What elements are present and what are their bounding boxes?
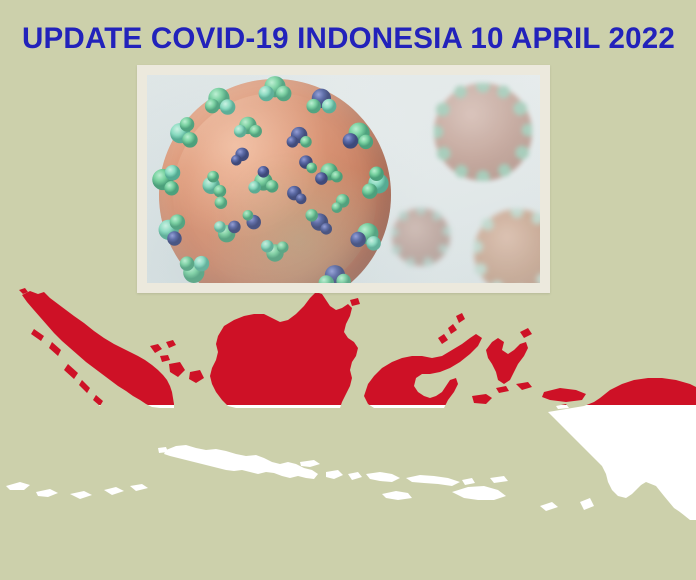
island-lingga xyxy=(160,355,170,362)
island-nias xyxy=(49,342,61,356)
island-riau-2 xyxy=(166,340,176,348)
virus-photo-image xyxy=(147,75,540,283)
island-bangka xyxy=(169,362,185,377)
page-title: UPDATE COVID-19 INDONESIA 10 APRIL 2022 xyxy=(0,22,696,56)
island-java-west xyxy=(158,447,168,453)
island-sumbawa xyxy=(366,472,400,482)
island-enggano xyxy=(93,395,103,406)
island-alor xyxy=(462,478,475,485)
virus-particle-foreground xyxy=(159,79,391,283)
island-riau-1 xyxy=(150,344,162,353)
island-bali xyxy=(326,470,343,479)
island-wetar xyxy=(490,476,508,483)
island-mentawai-2 xyxy=(79,380,90,393)
island-sangihe-1 xyxy=(438,334,448,344)
island-java xyxy=(164,445,318,479)
island-islet-3 xyxy=(70,491,92,499)
island-islet-2 xyxy=(36,489,58,497)
island-timor xyxy=(452,486,506,500)
island-sulawesi xyxy=(364,334,482,408)
page-title-text: UPDATE COVID-19 INDONESIA 10 APRIL 2022 xyxy=(21,22,674,56)
island-obi xyxy=(516,382,532,390)
map-islands xyxy=(6,288,696,520)
virus-photo-frame xyxy=(137,65,550,293)
island-lombok xyxy=(348,472,362,480)
island-aru xyxy=(580,498,594,510)
island-buru xyxy=(472,394,492,404)
poster-canvas: UPDATE COVID-19 INDONESIA 10 APRIL 2022 xyxy=(0,0,696,580)
indonesia-map xyxy=(0,280,696,580)
island-talaud xyxy=(456,313,465,323)
indonesia-map-svg xyxy=(0,280,696,580)
island-mentawai-1 xyxy=(64,364,78,379)
island-simeulue xyxy=(31,329,44,341)
island-islet-1 xyxy=(6,482,30,490)
island-kei xyxy=(556,404,569,409)
island-islet-5 xyxy=(130,484,148,491)
island-sumba xyxy=(382,491,412,500)
island-bacan xyxy=(496,386,509,393)
island-seram xyxy=(542,388,586,402)
island-papua-south xyxy=(574,408,696,518)
island-sumatra xyxy=(22,291,174,408)
island-islet-4 xyxy=(104,487,124,495)
island-sangihe-2 xyxy=(448,324,457,334)
island-morotai xyxy=(520,328,532,338)
island-flores xyxy=(406,475,460,486)
virus-particle-background-2 xyxy=(392,208,450,266)
virus-particle-background-3 xyxy=(474,209,540,283)
island-derawan xyxy=(350,298,360,306)
island-halmahera xyxy=(486,338,528,384)
island-kalimantan xyxy=(210,292,358,408)
island-madura xyxy=(300,460,320,467)
island-tanimbar xyxy=(540,502,558,511)
island-belitung xyxy=(189,370,204,383)
virus-particle-background-1 xyxy=(434,83,532,181)
